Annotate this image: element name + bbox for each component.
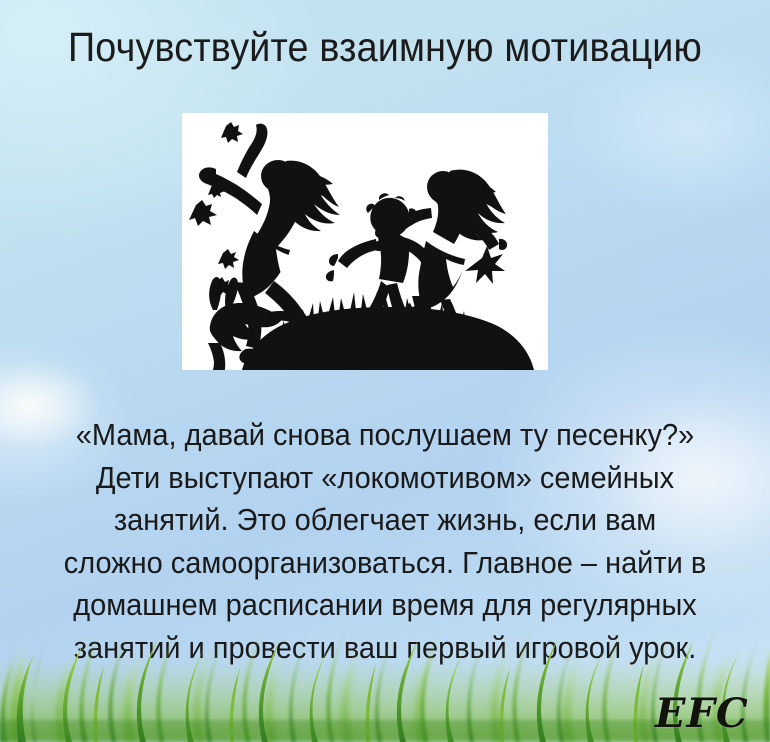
body-paragraph: «Мама, давай снова послушаем ту песенку?… [23, 414, 747, 669]
body-line-6: занятий и провести ваш первый игровой ур… [23, 627, 747, 670]
efc-logo: EFC [655, 690, 749, 737]
body-line-1: «Мама, давай снова послушаем ту песенку?… [23, 414, 747, 457]
page-title: Почувствуйте взаимную мотивацию [31, 22, 739, 72]
body-line-5: домашнем расписании время для регулярных [23, 584, 747, 627]
body-line-4: сложно самоорганизоваться. Главное – най… [23, 542, 747, 585]
illustration-panel [182, 113, 548, 370]
slide-canvas: Почувствуйте взаимную мотивацию [0, 0, 770, 742]
body-line-2: Дети выступают «локомотивом» семейных [23, 457, 747, 500]
body-line-3: занятий. Это облегчает жизнь, если вам [23, 499, 747, 542]
children-silhouette-illustration [182, 113, 548, 370]
